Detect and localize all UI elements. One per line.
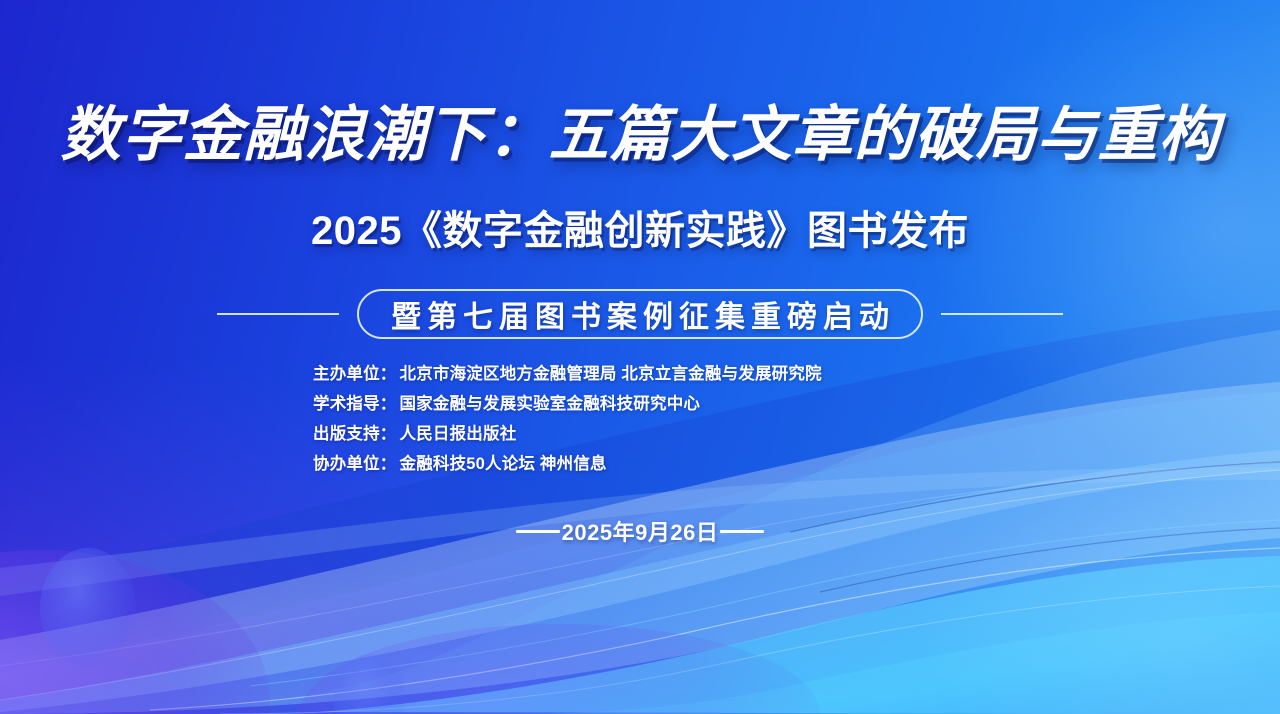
credit-label: 主办单位：	[313, 365, 397, 383]
credit-value: 国家金融与发展实验室金融科技研究中心	[400, 395, 701, 413]
launch-banner-row: 暨第七届图书案例征集重磅启动	[0, 288, 1280, 340]
credit-value: 北京市海淀区地方金融管理局 北京立言金融与发展研究院	[400, 365, 822, 383]
date-dash-left	[516, 530, 560, 533]
credit-line: 出版支持：人民日报出版社	[313, 419, 1013, 449]
date-dash-right	[720, 530, 764, 533]
poster-subtitle: 2025《数字金融创新实践》图书发布	[0, 209, 1280, 253]
credits-block: 主办单位：北京市海淀区地方金融管理局 北京立言金融与发展研究院 学术指导：国家金…	[313, 359, 1013, 479]
launch-banner-pill: 暨第七届图书案例征集重磅启动	[357, 289, 923, 339]
credit-label: 学术指导：	[313, 395, 397, 413]
divider-left	[217, 313, 339, 315]
credit-line: 学术指导：国家金融与发展实验室金融科技研究中心	[313, 389, 1013, 419]
event-date-row: 2025年9月26日	[0, 515, 1280, 547]
credit-label: 协办单位：	[313, 455, 397, 473]
credit-value: 金融科技50人论坛 神州信息	[400, 455, 607, 473]
credit-line: 协办单位：金融科技50人论坛 神州信息	[313, 449, 1013, 479]
credit-value: 人民日报出版社	[400, 425, 517, 443]
poster-content: 数字金融浪潮下：五篇大文章的破局与重构 2025《数字金融创新实践》图书发布 暨…	[0, 0, 1280, 714]
event-date: 2025年9月26日	[562, 515, 719, 547]
credit-label: 出版支持：	[313, 425, 397, 443]
credit-line: 主办单位：北京市海淀区地方金融管理局 北京立言金融与发展研究院	[313, 359, 1013, 389]
page-title: 数字金融浪潮下：五篇大文章的破局与重构	[0, 104, 1280, 168]
divider-right	[941, 313, 1063, 315]
poster-canvas: 数字金融浪潮下：五篇大文章的破局与重构 2025《数字金融创新实践》图书发布 暨…	[0, 0, 1280, 714]
